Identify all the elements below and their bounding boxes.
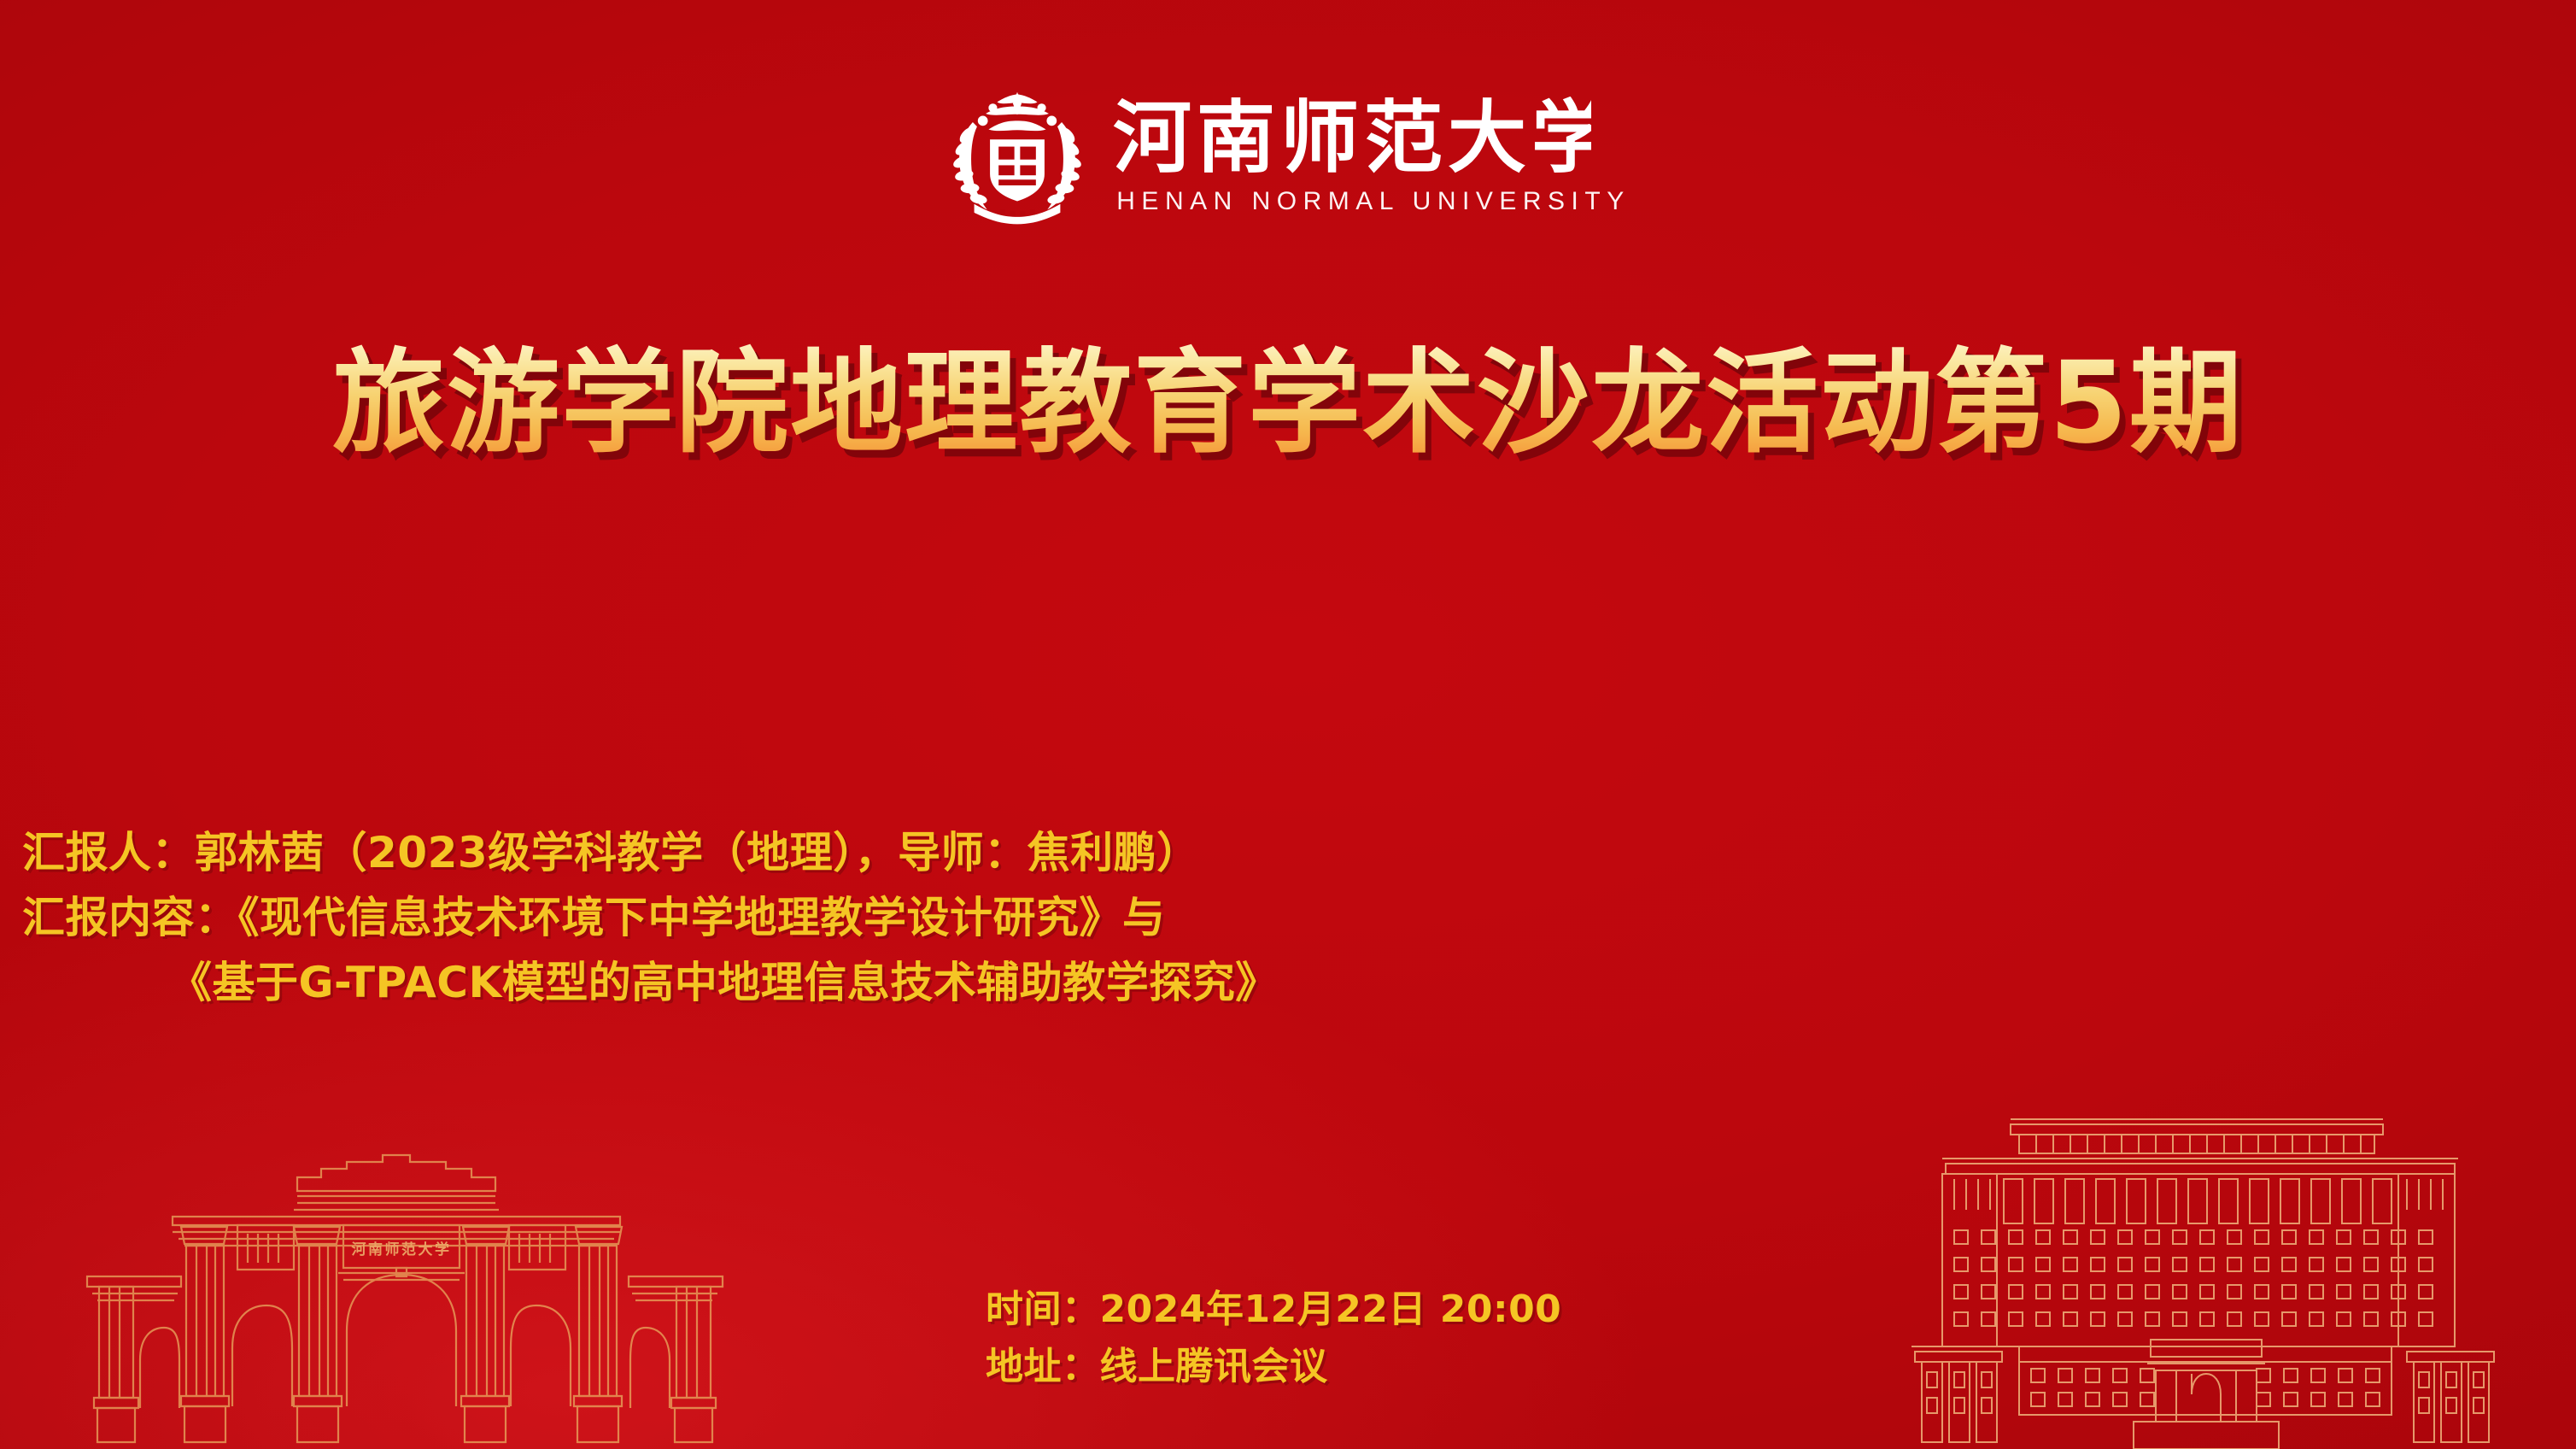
campus-gate-icon: 河南师范大学 [65, 1124, 757, 1449]
academic-building-icon [1860, 1090, 2561, 1449]
logo-english-name: HENAN NORMAL UNIVERSITY [1116, 187, 1630, 216]
page-title: 旅游学院地理教育学术沙龙活动第5期 [0, 331, 2576, 476]
logo-chinese-name: 河南师范大学 [1113, 97, 1591, 182]
content-line-2: 《基于G-TPACK模型的高中地理信息技术辅助教学探究》 [22, 950, 1279, 1015]
event-address: 地址：线上腾讯会议 [986, 1339, 1561, 1396]
gate-plaque-text: 河南师范大学 [352, 1241, 452, 1258]
logo-chinese-name-text: 河南师范大学 [1113, 97, 1591, 182]
logo-wordmark: 河南师范大学 HENAN NORMAL UNIVERSITY [1113, 97, 1630, 216]
university-crest-icon [946, 82, 1089, 226]
event-time: 时间：2024年12月22日 20:00 [986, 1282, 1561, 1339]
event-poster: 河南师范大学 HENAN NORMAL UNIVERSITY 旅游学院地理教育学… [0, 0, 2576, 1449]
content-line-1: 汇报内容：《现代信息技术环境下中学地理教学设计研究》与 [22, 885, 1279, 950]
university-logo: 河南师范大学 HENAN NORMAL UNIVERSITY [0, 82, 2576, 226]
presenter-line: 汇报人：郭林茜（2023级学科教学（地理），导师：焦利鹏） [22, 820, 1279, 885]
event-meta: 时间：2024年12月22日 20:00 地址：线上腾讯会议 [986, 1282, 1561, 1396]
presentation-info: 汇报人：郭林茜（2023级学科教学（地理），导师：焦利鹏） 汇报内容：《现代信息… [22, 820, 1279, 1015]
